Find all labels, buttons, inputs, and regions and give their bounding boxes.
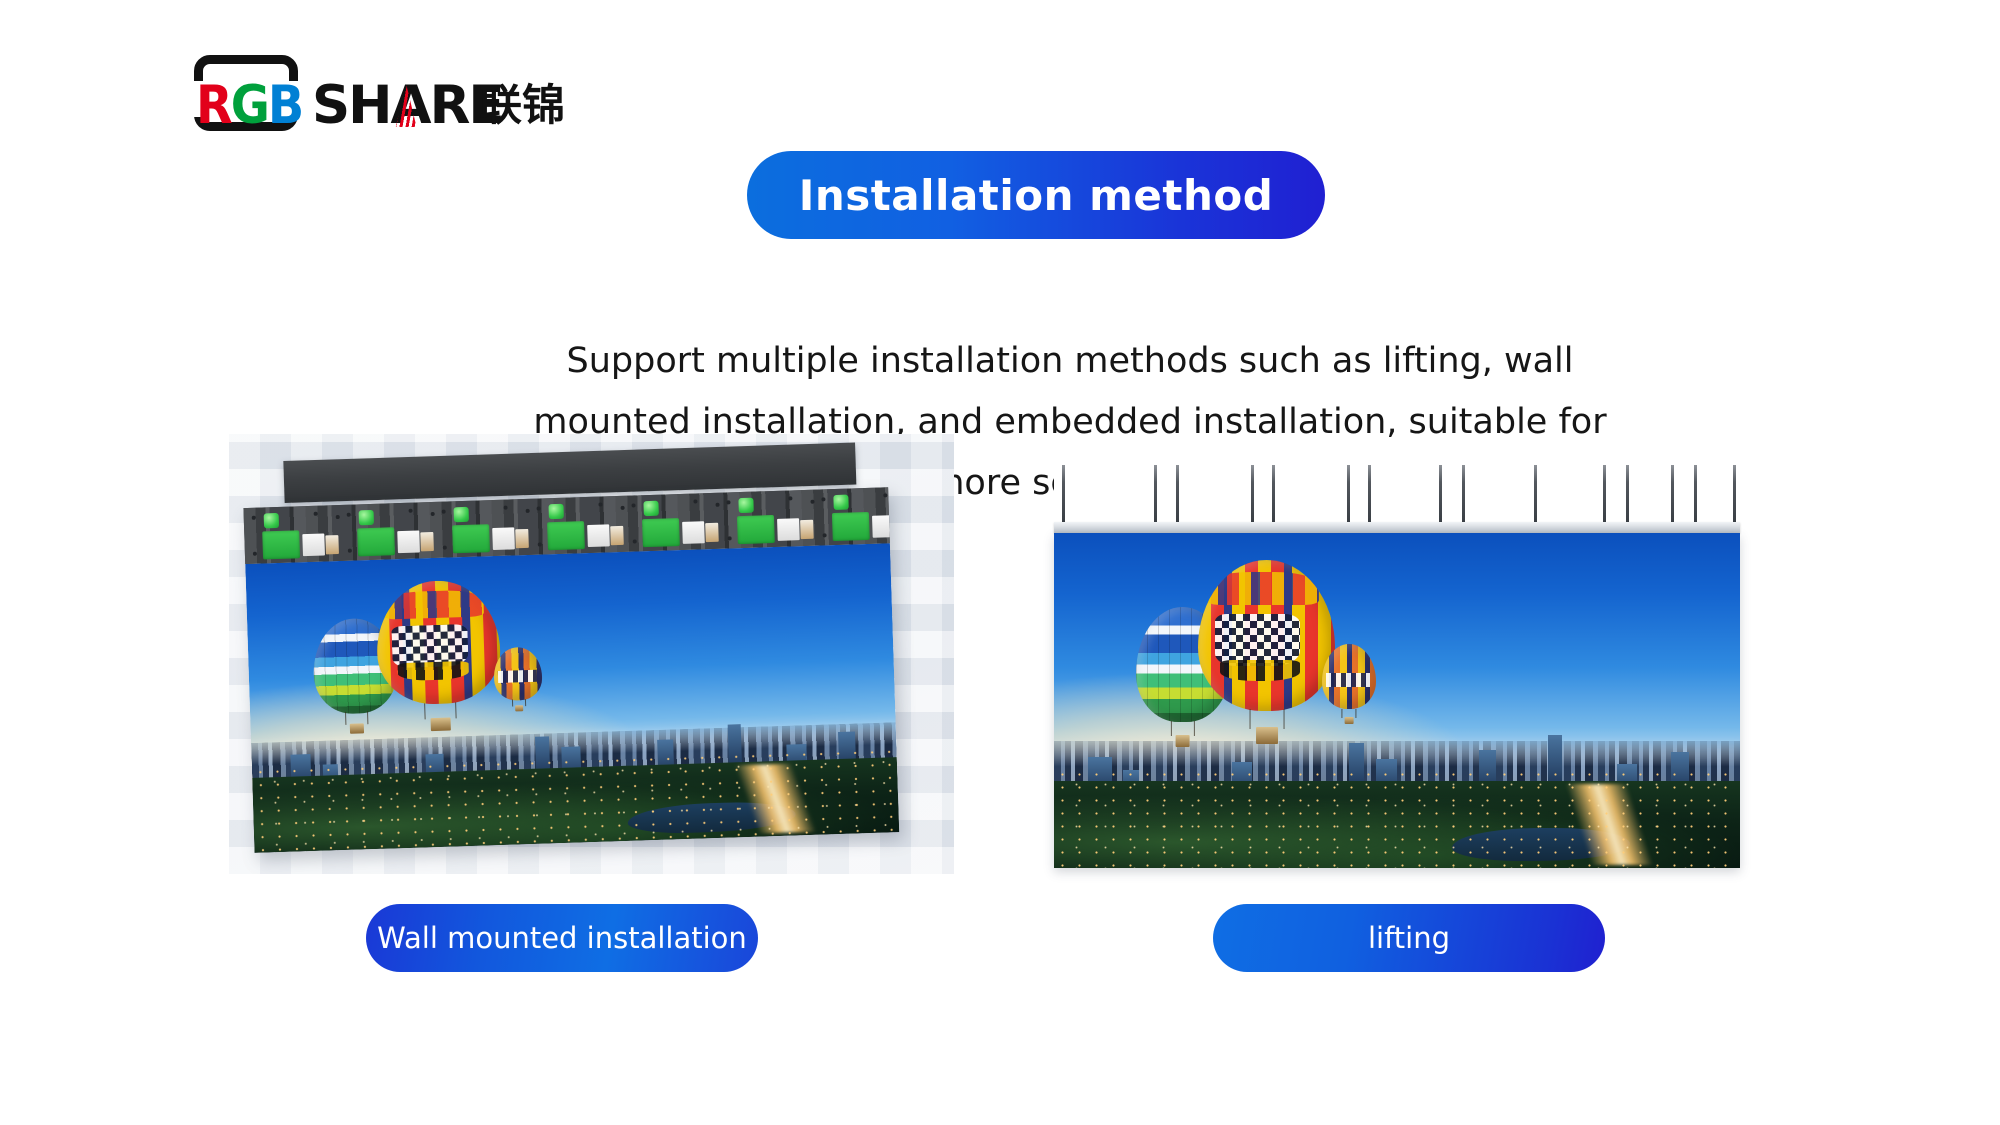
led-connector bbox=[777, 518, 800, 541]
led-connector bbox=[587, 524, 610, 547]
balloon-yellow-small bbox=[1322, 644, 1377, 724]
led-lamp-icon bbox=[643, 501, 658, 516]
figure-lifting bbox=[1054, 465, 1740, 868]
led-module bbox=[623, 492, 731, 551]
balloon-envelope bbox=[493, 647, 543, 701]
caption-lifting-label: lifting bbox=[1368, 921, 1450, 955]
balloon-basket bbox=[515, 705, 523, 711]
led-module bbox=[433, 499, 541, 558]
led-connector bbox=[682, 521, 705, 544]
logo-share-pre: SH bbox=[312, 75, 391, 136]
hanging-cable bbox=[1626, 465, 1629, 522]
led-pcb bbox=[832, 512, 870, 541]
hanging-cables bbox=[1054, 465, 1740, 522]
led-pcb bbox=[452, 524, 490, 553]
logo-share-wordmark: SHARE bbox=[312, 79, 503, 132]
balloon-ropes bbox=[1249, 709, 1284, 729]
hanging-cable bbox=[1733, 465, 1736, 522]
led-lamp-icon bbox=[833, 495, 848, 510]
brand-logo: RGB SHARE 联锦 bbox=[190, 55, 570, 133]
led-connector bbox=[610, 526, 624, 545]
led-connector bbox=[515, 529, 529, 548]
led-connector bbox=[302, 533, 325, 556]
figure-wall-mounted bbox=[229, 434, 954, 874]
caption-lifting[interactable]: lifting bbox=[1213, 904, 1605, 972]
hanging-cable bbox=[1534, 465, 1537, 522]
balloon-envelope bbox=[1322, 644, 1377, 710]
caption-wall-mounted-installation[interactable]: Wall mounted installation bbox=[366, 904, 758, 972]
led-pcb bbox=[262, 530, 300, 559]
logo-letter-b: B bbox=[268, 75, 302, 136]
led-panel-wall bbox=[243, 487, 899, 853]
led-lamp-icon bbox=[548, 504, 563, 519]
led-module bbox=[813, 487, 890, 545]
hanging-cable bbox=[1347, 465, 1350, 522]
page-title-banner: Installation method bbox=[747, 151, 1325, 239]
balloon-basket bbox=[1345, 717, 1354, 724]
balloon-yellow-small bbox=[493, 647, 543, 712]
led-lamp-icon bbox=[738, 498, 753, 513]
logo-letter-r: R bbox=[196, 75, 231, 136]
hanging-cable bbox=[1603, 465, 1606, 522]
led-connector bbox=[800, 520, 814, 539]
led-connector bbox=[492, 527, 515, 550]
led-connector bbox=[872, 515, 890, 538]
logo-share-accent-a: A bbox=[391, 79, 430, 132]
led-module bbox=[528, 495, 636, 554]
led-connector bbox=[397, 530, 420, 553]
led-module bbox=[338, 502, 446, 561]
balloon-envelope bbox=[1198, 560, 1335, 711]
led-connector bbox=[325, 535, 339, 554]
led-screen-content-right bbox=[1054, 533, 1740, 868]
balloon-basket bbox=[431, 717, 451, 731]
hanging-cable bbox=[1368, 465, 1371, 522]
balloon-city-artwork-right bbox=[1054, 533, 1740, 868]
balloon-red bbox=[375, 579, 502, 733]
page-title: Installation method bbox=[799, 171, 1274, 220]
hanging-cable bbox=[1251, 465, 1254, 522]
led-pcb bbox=[547, 521, 585, 550]
balloon-basket bbox=[1175, 735, 1190, 748]
led-module bbox=[718, 489, 826, 548]
balloon-red bbox=[1198, 560, 1335, 744]
hanging-cable bbox=[1439, 465, 1442, 522]
led-pcb bbox=[357, 527, 395, 556]
city-lights bbox=[1054, 768, 1740, 869]
hanging-cable bbox=[1062, 465, 1065, 522]
balloon-city-artwork-left bbox=[245, 543, 899, 853]
caption-wall-mounted-label: Wall mounted installation bbox=[377, 921, 747, 955]
hanging-cable bbox=[1671, 465, 1674, 522]
hanging-cable bbox=[1176, 465, 1179, 522]
led-lamp-icon bbox=[454, 507, 469, 522]
led-lamp-icon bbox=[359, 510, 374, 525]
balloon-basket bbox=[1256, 727, 1278, 744]
logo-letter-g: G bbox=[231, 75, 268, 136]
hanging-cable bbox=[1694, 465, 1697, 522]
balloon-envelope bbox=[375, 579, 501, 706]
led-pcb bbox=[737, 515, 775, 544]
led-pcb bbox=[642, 518, 680, 547]
led-module bbox=[243, 505, 351, 564]
led-connector bbox=[705, 523, 719, 542]
logo-chinese-name: 联锦 bbox=[479, 85, 565, 128]
hanging-cable bbox=[1462, 465, 1465, 522]
led-lamp-icon bbox=[264, 513, 279, 528]
led-connector bbox=[420, 532, 434, 551]
led-screen-content-left bbox=[245, 543, 899, 853]
screen-top-rail bbox=[1054, 522, 1740, 533]
hanging-cable bbox=[1154, 465, 1157, 522]
logo-rgb-letters: RGB bbox=[196, 79, 302, 132]
hanging-cable bbox=[1272, 465, 1275, 522]
balloon-basket bbox=[350, 723, 364, 734]
